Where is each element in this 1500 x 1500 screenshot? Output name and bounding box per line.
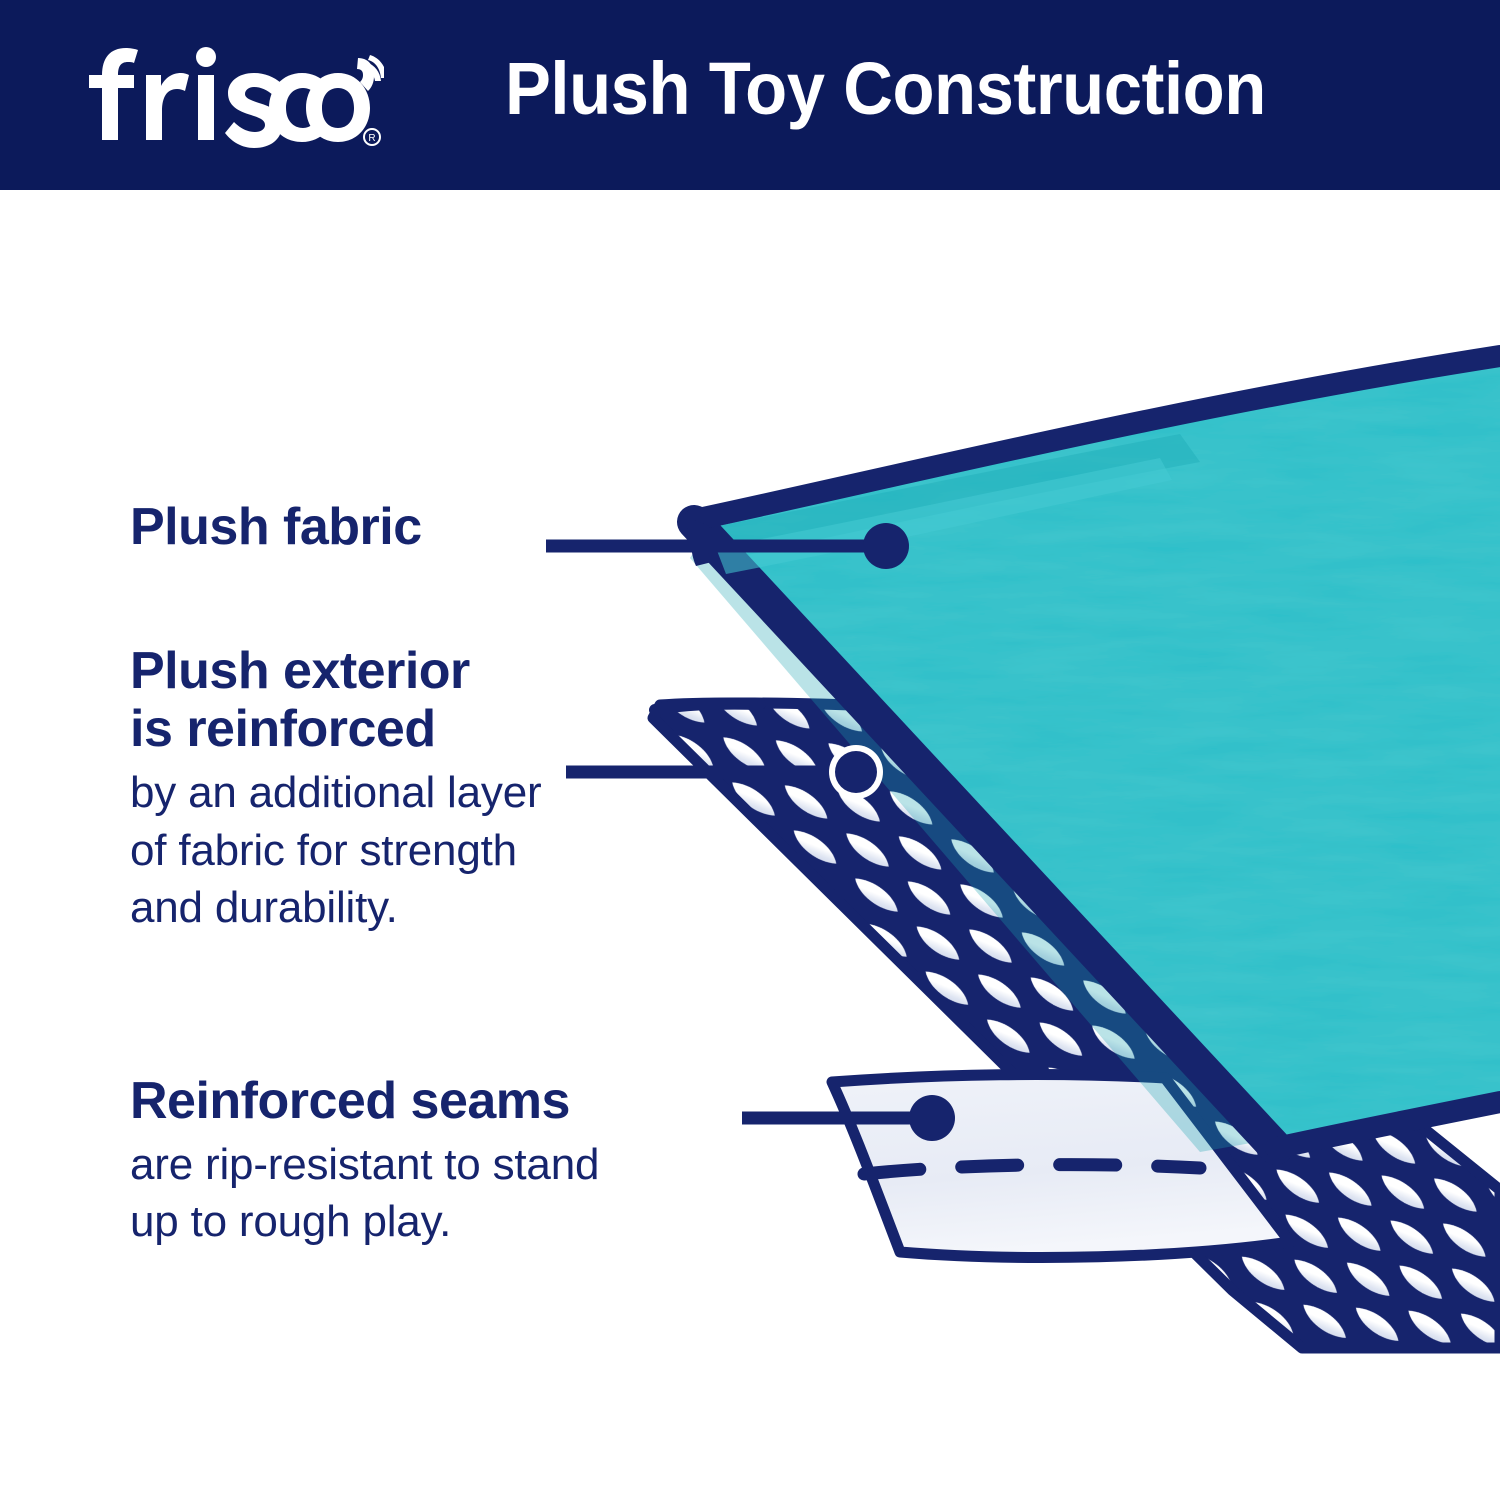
registered-trademark-icon: R — [364, 129, 380, 145]
callout-reinforced-seams-body: are rip-resistant to stand up to rough p… — [130, 1136, 810, 1250]
callout-dot-reinforced-seams — [909, 1095, 955, 1141]
diagram-stage: Plush fabric Plush exterior is reinforce… — [0, 190, 1500, 1500]
callout-plush-exterior-body: by an additional layer of fabric for str… — [130, 764, 730, 936]
callout-plush-fabric-heading: Plush fabric — [130, 498, 600, 556]
svg-text:R: R — [368, 133, 375, 144]
callout-plush-exterior: Plush exterior is reinforced by an addit… — [130, 642, 730, 936]
callout-dot-plush-exterior — [835, 751, 877, 793]
callout-reinforced-seams-heading: Reinforced seams — [130, 1072, 810, 1130]
frisco-wordmark-logo[interactable]: R — [84, 44, 384, 148]
callout-plush-exterior-heading: Plush exterior is reinforced — [130, 642, 730, 758]
page-title: Plush Toy Construction — [505, 0, 1266, 190]
callout-dot-plush-fabric — [863, 523, 909, 569]
callout-reinforced-seams: Reinforced seams are rip-resistant to st… — [130, 1072, 810, 1251]
header-bar: R Plush Toy Construction — [0, 0, 1500, 190]
callout-plush-fabric: Plush fabric — [130, 498, 600, 556]
